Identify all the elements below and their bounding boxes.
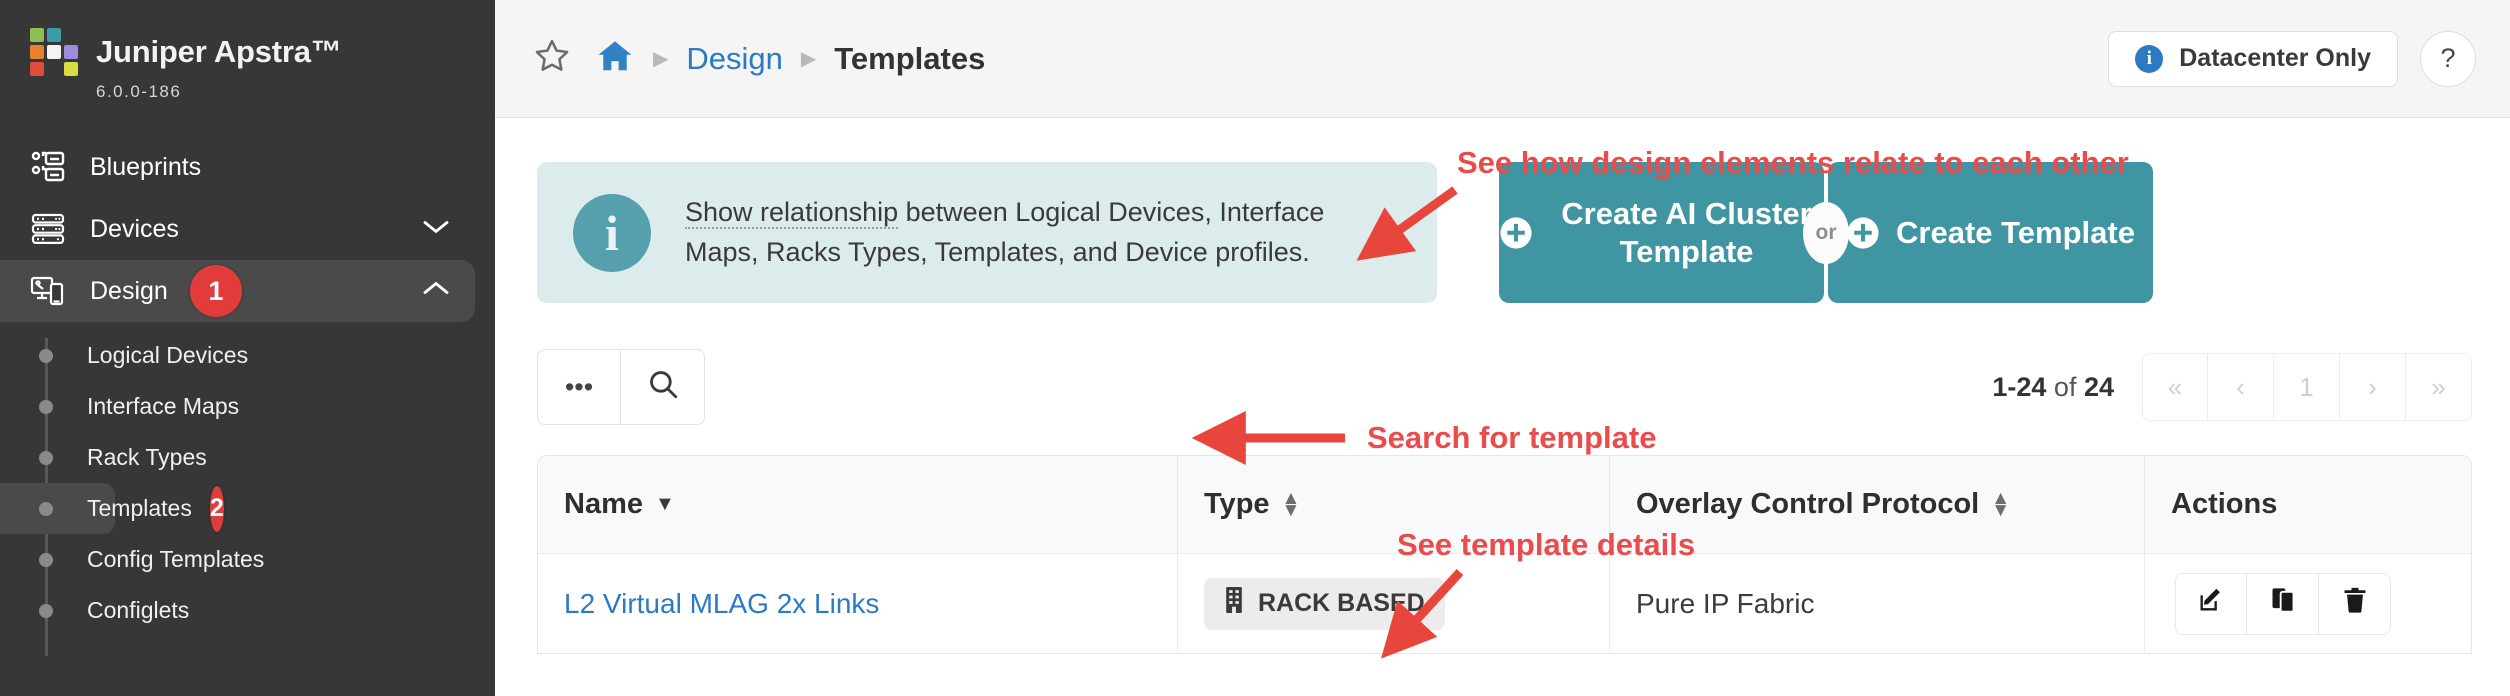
bullet-icon [39,349,53,363]
table-header-row: Name ▼ Type ▲▼ Overlay Control Protocol … [538,456,2471,553]
toolbar-buttons: ••• [537,349,705,425]
bullet-icon [39,604,53,618]
sidebar-item-interface-maps[interactable]: Interface Maps [0,381,115,432]
sidebar-item-label: Rack Types [87,444,207,471]
edit-button[interactable] [2175,573,2247,635]
star-icon[interactable] [533,37,571,80]
breadcrumb-separator: ▶ [653,46,668,71]
design-icon [30,274,74,308]
table-row: L2 Virtual MLAG 2x Links [538,553,2471,653]
sidebar-item-label: Design [90,277,168,306]
column-header-label: Name [564,488,643,521]
status-badge: RACK BASED [1204,578,1445,630]
cell-type: RACK BASED [1178,554,1610,653]
sidebar-item-design[interactable]: Design 1 [0,260,475,322]
clone-icon [2269,586,2297,621]
sidebar-item-blueprints[interactable]: Blueprints [0,136,475,198]
pagination-range: 1-24 [1992,372,2046,402]
main-area: ▶ Design ▶ Templates i Datacenter Only ?… [495,0,2510,696]
sidebar-item-label: Blueprints [90,153,201,182]
chevron-up-icon[interactable] [421,280,451,303]
sidebar-item-label: Templates [87,495,192,522]
clone-button[interactable] [2247,573,2319,635]
breadcrumb: ▶ Design ▶ Templates [533,37,985,80]
blueprints-icon [30,150,74,184]
sidebar-item-label: Config Templates [87,546,264,573]
pagination-buttons: « ‹ 1 › » [2142,353,2472,421]
or-separator: or [1803,202,1849,264]
primary-nav: Blueprints Devices [0,136,495,636]
sidebar: Juniper Apstra™ 6.0.0-186 Blueprints [0,0,495,696]
pagination-last-button[interactable]: » [2406,353,2472,421]
delete-button[interactable] [2319,573,2391,635]
pagination-total: 24 [2084,372,2114,402]
show-relationship-link[interactable]: Show relationship [685,197,898,229]
design-subnav: Logical Devices Interface Maps Rack Type… [0,330,495,636]
plus-circle-icon [1846,216,1880,250]
devices-icon [30,211,74,247]
sort-both-icon: ▲▼ [1282,493,1301,517]
plus-circle-icon [1499,216,1533,250]
create-ai-cluster-template-label: Create AI Cluster Template [1549,195,1824,271]
building-icon [1224,587,1244,620]
pagination-prev-button[interactable]: ‹ [2208,353,2274,421]
info-circle-icon: i [2135,45,2163,73]
templates-table: Name ▼ Type ▲▼ Overlay Control Protocol … [537,455,2472,654]
delete-icon [2341,586,2369,621]
search-button[interactable] [621,349,705,425]
breadcrumb-design[interactable]: Design [686,41,783,77]
column-header-label: Type [1204,488,1270,521]
sidebar-badge-2: 2 [210,486,224,532]
bullet-icon [39,553,53,567]
column-header-label: Actions [2171,488,2277,521]
sidebar-item-templates[interactable]: Templates 2 [0,483,115,534]
home-icon[interactable] [595,37,635,80]
topbar: ▶ Design ▶ Templates i Datacenter Only ? [495,0,2510,118]
info-banner: i Show relationship between Logical Devi… [537,162,1437,303]
column-header-type[interactable]: Type ▲▼ [1178,456,1610,553]
topbar-actions: i Datacenter Only ? [2108,31,2476,87]
bullet-icon [39,502,53,516]
row-action-buttons [2175,573,2391,635]
datacenter-only-label: Datacenter Only [2179,44,2371,73]
bullet-icon [39,451,53,465]
sidebar-item-label: Devices [90,215,179,244]
pagination: 1-24 of 24 « ‹ 1 › » [1992,353,2472,421]
create-template-label: Create Template [1896,214,2135,252]
pagination-next-button[interactable]: › [2340,353,2406,421]
sort-desc-icon: ▼ [655,493,675,516]
pagination-of: of [2046,372,2084,402]
bullet-icon [39,400,53,414]
column-header-actions: Actions [2145,456,2471,553]
datacenter-only-pill[interactable]: i Datacenter Only [2108,31,2398,87]
cell-actions [2145,554,2471,653]
sidebar-item-devices[interactable]: Devices [0,198,475,260]
sidebar-item-logical-devices[interactable]: Logical Devices [0,330,115,381]
brand-title: Juniper Apstra™ [96,34,342,70]
sidebar-item-config-templates[interactable]: Config Templates [0,534,115,585]
banner-row: i Show relationship between Logical Devi… [537,162,2472,303]
brand[interactable]: Juniper Apstra™ [0,0,495,76]
sidebar-item-label: Configlets [87,597,189,624]
page-title: Templates [834,41,985,77]
info-circle-icon: i [573,194,651,272]
cell-overlay-control-protocol: Pure IP Fabric [1610,554,2145,653]
table-toolbar: ••• 1-24 of 24 « ‹ [537,349,2472,425]
sidebar-item-rack-types[interactable]: Rack Types [0,432,115,483]
more-options-button[interactable]: ••• [537,349,621,425]
create-template-button[interactable]: Create Template [1828,162,2153,303]
sidebar-item-label: Logical Devices [87,342,248,369]
apstra-logo-icon [30,28,78,76]
column-header-name[interactable]: Name ▼ [538,456,1178,553]
column-header-overlay-control-protocol[interactable]: Overlay Control Protocol ▲▼ [1610,456,2145,553]
chevron-down-icon[interactable] [421,218,451,241]
app-root: Juniper Apstra™ 6.0.0-186 Blueprints [0,0,2510,696]
search-icon [646,367,680,408]
sort-both-icon: ▲▼ [1991,493,2010,517]
pagination-count: 1-24 of 24 [1992,372,2114,403]
pagination-page-1[interactable]: 1 [2274,353,2340,421]
column-header-label: Overlay Control Protocol [1636,488,1979,521]
brand-version: 6.0.0-186 [0,82,495,102]
type-label: RACK BASED [1258,589,1425,618]
content: i Show relationship between Logical Devi… [495,118,2510,654]
pagination-first-button[interactable]: « [2142,353,2208,421]
sidebar-badge-1: 1 [190,265,242,317]
sidebar-item-configlets[interactable]: Configlets [0,585,115,636]
info-banner-text: Show relationship between Logical Device… [685,193,1401,271]
template-name-link[interactable]: L2 Virtual MLAG 2x Links [564,588,879,620]
breadcrumb-separator: ▶ [801,46,816,71]
create-ai-cluster-template-button[interactable]: Create AI Cluster Template [1499,162,1824,303]
help-button[interactable]: ? [2420,31,2476,87]
create-buttons-group: Create AI Cluster Template Create Templa… [1499,162,2153,303]
sidebar-item-label: Interface Maps [87,393,239,420]
ellipsis-icon: ••• [565,372,593,403]
cell-name: L2 Virtual MLAG 2x Links [538,554,1178,653]
edit-icon [2197,586,2225,621]
